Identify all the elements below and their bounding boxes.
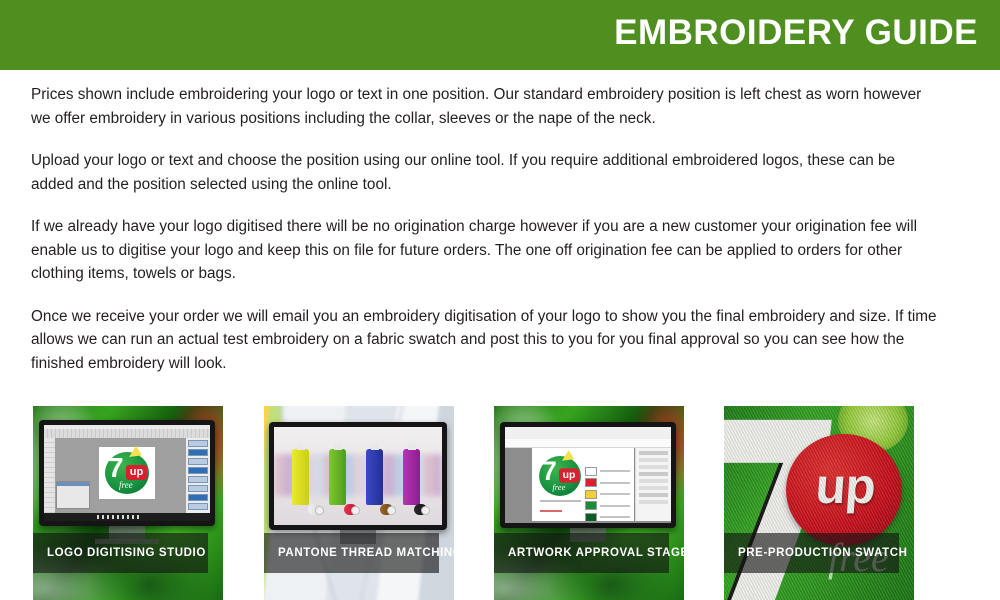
- card-caption-bar: ARTWORK APPROVAL STAGE: [494, 533, 669, 573]
- monitor-screen: [274, 427, 442, 525]
- page-title: EMBROIDERY GUIDE: [614, 11, 978, 55]
- process-card-pantone-thread-matching[interactable]: PANTONE THREAD MATCHING: [264, 406, 454, 600]
- process-card-logo-digitising-studio[interactable]: 7 up free LOGO DIGITISING STUDIO: [33, 406, 223, 600]
- card-caption-label: ARTWORK APPROVAL STAGE: [494, 547, 684, 559]
- paragraph-1: Prices shown include embroidering your l…: [31, 83, 939, 130]
- seven-up-logo-icon: 7 up free: [99, 447, 155, 499]
- card-caption-label: LOGO DIGITISING STUDIO: [33, 547, 206, 559]
- paragraph-4: Once we receive your order we will email…: [31, 305, 939, 376]
- card-caption-label: PRE-PRODUCTION SWATCH: [724, 547, 908, 559]
- paragraph-2: Upload your logo or text and choose the …: [31, 149, 939, 196]
- card-caption-bar: PANTONE THREAD MATCHING: [264, 533, 439, 573]
- monitor-illustration: [269, 422, 447, 530]
- monitor-screen: 7 up free: [44, 425, 210, 521]
- paragraph-3: If we already have your logo digitised t…: [31, 215, 939, 286]
- document-sidebar: [635, 448, 671, 521]
- seven-up-logo-icon: 7 up free: [534, 451, 587, 500]
- logo-up-text: up: [559, 468, 579, 482]
- logo-seven-text: 7: [542, 458, 557, 485]
- colour-swatch-list: [585, 467, 630, 523]
- monitor-screen: 7 up free: [505, 427, 671, 523]
- artwork-document: 7 up free: [532, 448, 635, 521]
- card-caption-bar: PRE-PRODUCTION SWATCH: [724, 533, 899, 573]
- logo-free-text: free: [553, 482, 566, 492]
- process-card-strip: 7 up free LOGO DIGITISING STUDIO: [33, 406, 967, 600]
- monitor-illustration: 7 up free: [500, 422, 676, 528]
- process-card-artwork-approval-stage[interactable]: 7 up free: [494, 406, 684, 600]
- process-card-pre-production-swatch[interactable]: up free PRE-PRODUCTION SWATCH: [724, 406, 914, 600]
- logo-free-text: free: [119, 480, 133, 490]
- page-header: EMBROIDERY GUIDE: [0, 0, 1000, 70]
- logo-seven-text: 7: [108, 454, 124, 482]
- card-caption-bar: LOGO DIGITISING STUDIO: [33, 533, 208, 573]
- card-caption-label: PANTONE THREAD MATCHING: [264, 547, 454, 559]
- body-copy: Prices shown include embroidering your l…: [31, 83, 939, 375]
- logo-up-text: up: [126, 465, 147, 480]
- monitor-illustration: 7 up free: [39, 420, 215, 526]
